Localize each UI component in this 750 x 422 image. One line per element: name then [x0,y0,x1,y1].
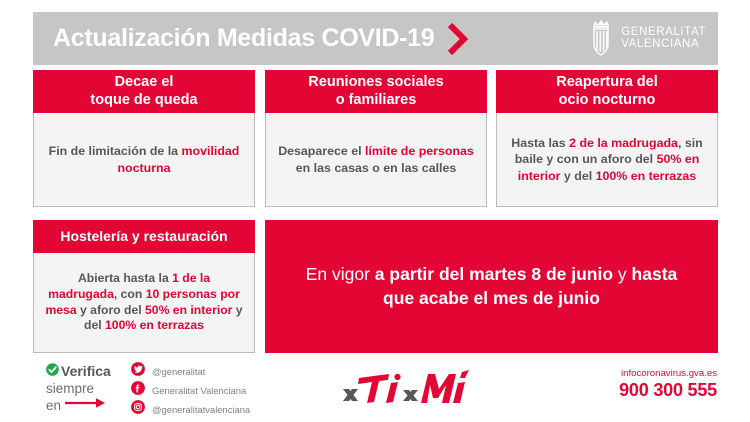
card-title-text: Hostelería y restauración [60,228,227,245]
instagram-icon[interactable] [131,400,145,419]
card-title-text: Reapertura delocio nocturno [556,74,658,109]
twitter-icon[interactable] [131,362,145,381]
card-reapertura-ocio-nocturno: Reapertura delocio nocturno Hasta las 2 … [496,70,718,207]
social-handle[interactable]: @generalitatvalenciana [152,404,250,415]
card-title: Decae eltoque de queda [33,70,255,113]
card-title-text: Decae eltoque de queda [90,74,197,109]
card-body: Abierta hasta la 1 de la madrugada, con … [33,253,255,353]
validity-period-text: En vigor a partir del martes 8 de junio … [291,263,692,310]
verify-label-line2: siempre [46,381,138,396]
card-body-text: Abierta hasta la 1 de la madrugada, con … [43,271,245,334]
social-row-facebook[interactable]: Generalitat Valenciana [131,383,250,398]
verify-callout: Verifica siempre en [46,363,138,415]
card-title: Reapertura delocio nocturno [496,70,718,113]
chevron-right-icon [447,22,469,56]
social-handle[interactable]: @generalitat [152,366,205,377]
green-check-badge-icon [46,363,59,381]
covid-measures-infographic: Actualización Medidas COVID-19 GENERALIT… [0,0,750,422]
card-body-text: Desaparece el límite de personas en las … [275,143,477,176]
card-body-text: Hasta las 2 de la madrugada, sin baile y… [506,135,708,184]
social-handle[interactable]: Generalitat Valenciana [152,385,246,396]
contact-phone[interactable]: 900 300 555 [619,380,717,402]
social-row-instagram[interactable]: @generalitatvalenciana [131,402,250,417]
logo-text-line2: VALENCIANA [621,39,706,51]
card-body-text: Fin de limitación de la movilidad noctur… [43,143,245,176]
card-title-text: Reuniones socialeso familiares [308,74,443,109]
card-reuniones-sociales: Reuniones socialeso familiares Desaparec… [265,70,487,207]
generalitat-valenciana-logo: GENERALITAT VALENCIANA [588,18,706,60]
verify-label: Verifica [61,364,111,379]
card-body: Fin de limitación de la movilidad noctur… [33,113,255,207]
header-bar: Actualización Medidas COVID-19 GENERALIT… [33,12,718,65]
card-title: Reuniones socialeso familiares [265,70,487,113]
page-title: Actualización Medidas COVID-19 [53,24,434,53]
contact-website[interactable]: infocoronavirus.gva.es [619,368,717,380]
card-body: Hasta las 2 de la madrugada, sin baile y… [496,113,718,207]
x-ti-x-mi-logo [341,363,469,409]
card-hosteleria-restauracion: Hostelería y restauración Abierta hasta … [33,220,255,353]
card-decae-toque-de-queda: Decae eltoque de queda Fin de limitación… [33,70,255,207]
card-body: Desaparece el límite de personas en las … [265,113,487,207]
arrow-right-icon [64,396,106,415]
verify-label-line3: en [46,398,61,413]
contact-block: infocoronavirus.gva.es 900 300 555 [619,368,717,402]
facebook-icon[interactable] [131,381,145,400]
social-links-list: @generalitat Generalitat Valenciana [131,364,250,417]
generalitat-coat-of-arms-icon [588,18,614,60]
validity-period-panel: En vigor a partir del martes 8 de junio … [265,220,718,353]
card-title: Hostelería y restauración [33,220,255,253]
social-row-twitter[interactable]: @generalitat [131,364,250,379]
